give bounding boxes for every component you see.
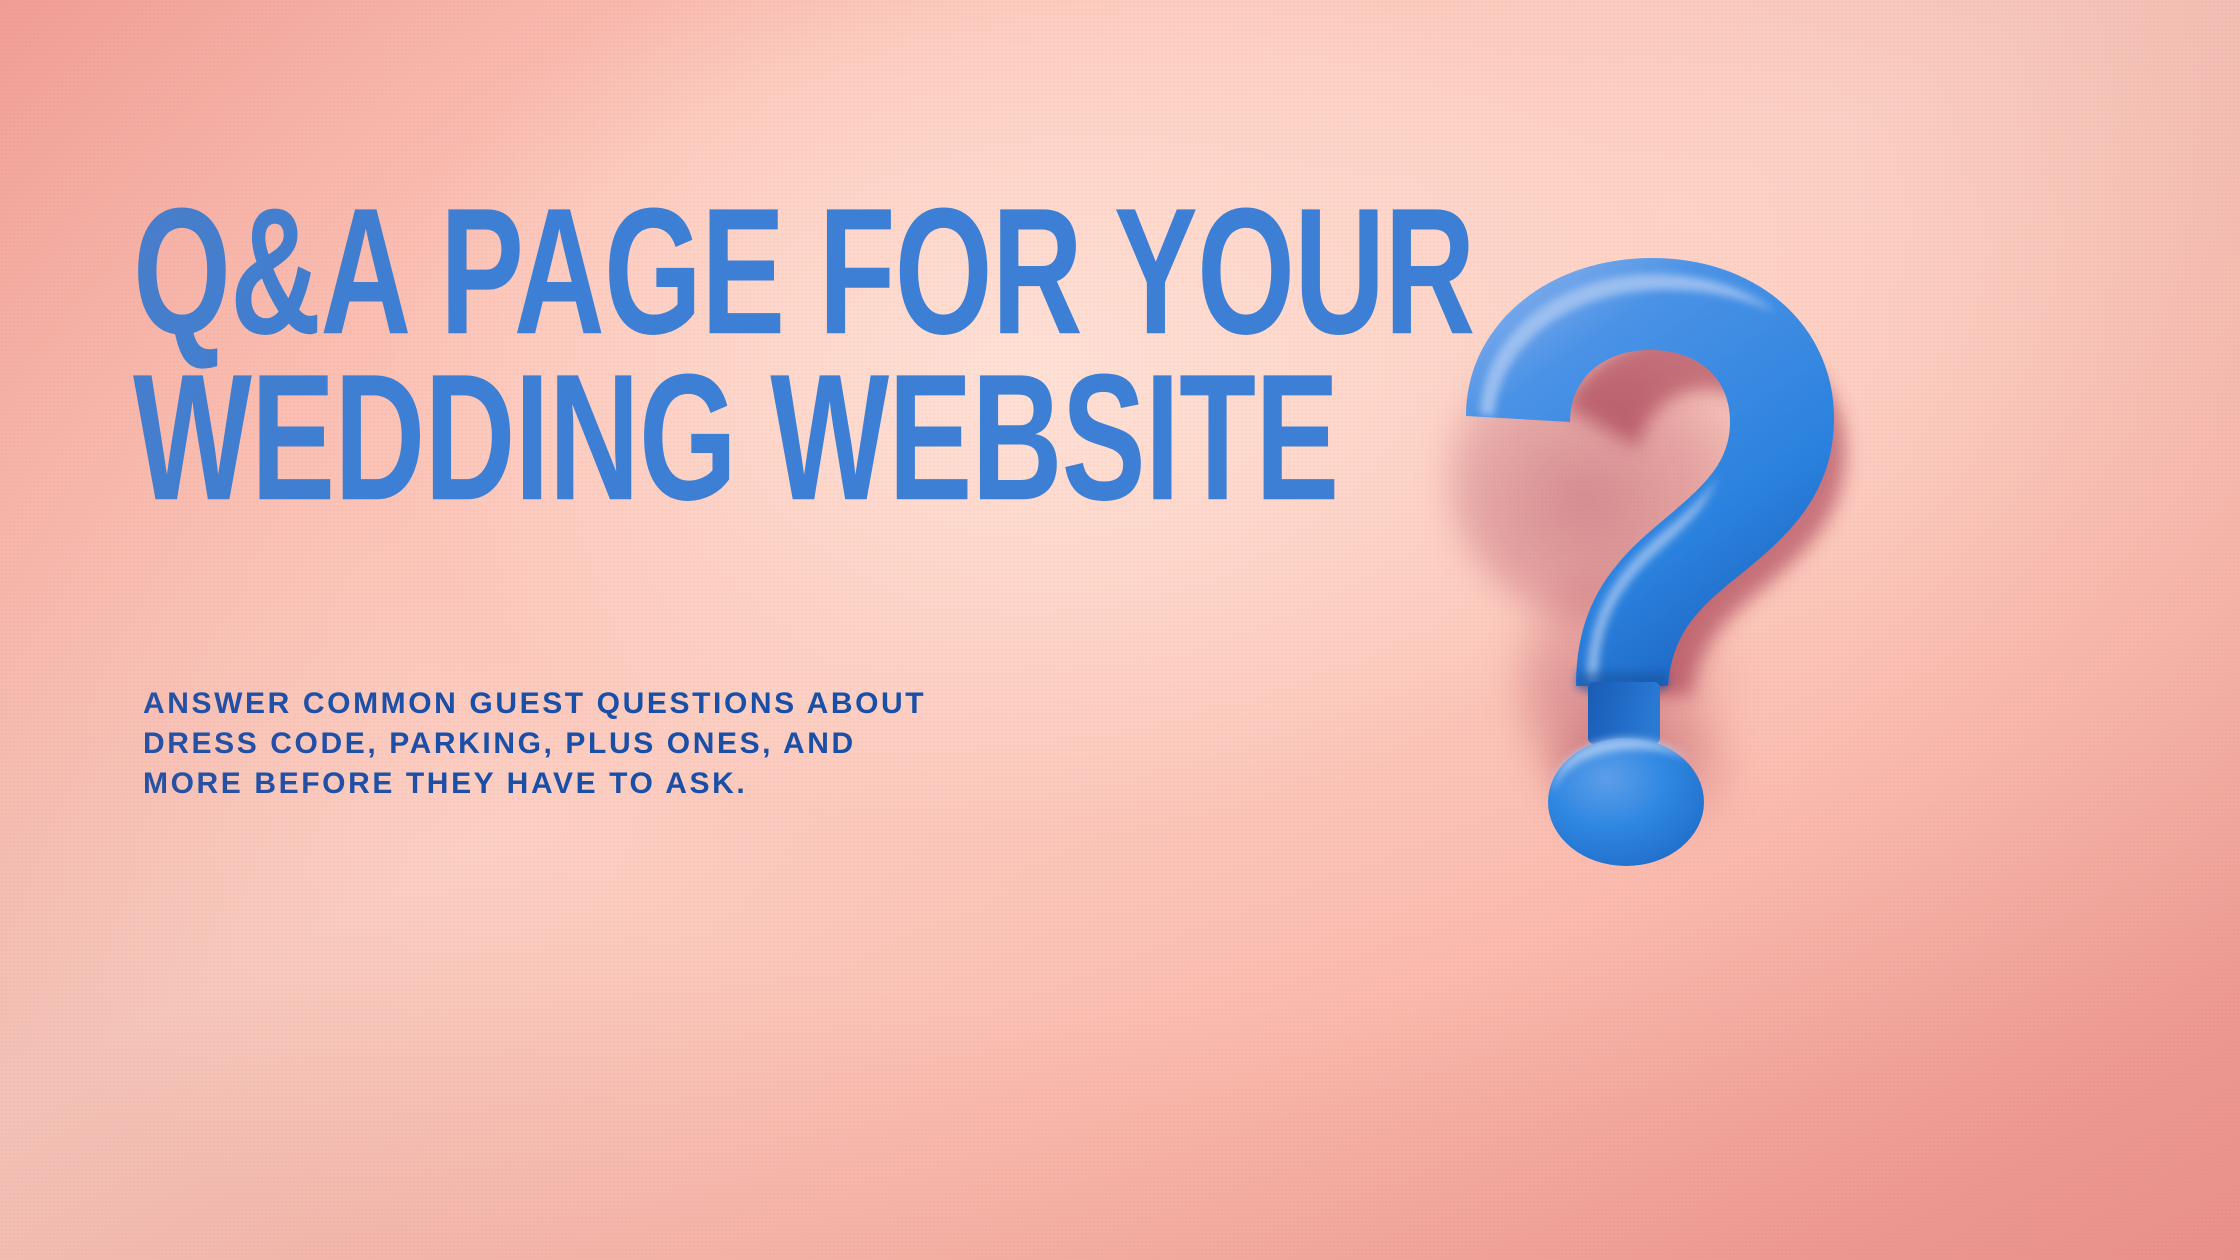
question-mark-icon bbox=[1400, 230, 1900, 870]
page-title-line-1: Q&A PAGE FOR YOUR bbox=[133, 182, 1166, 360]
headline-block: Q&A PAGE FOR YOUR WEDDING WEBSITE bbox=[133, 182, 1363, 496]
question-mark-body bbox=[1466, 258, 1834, 686]
poster-canvas: Q&A PAGE FOR YOUR WEDDING WEBSITE ANSWER… bbox=[0, 0, 2240, 1260]
question-mark-prop bbox=[1400, 230, 1900, 870]
page-title-line-2: WEDDING WEBSITE bbox=[133, 348, 1166, 526]
question-mark-stem bbox=[1588, 682, 1660, 744]
subtitle-paragraph: ANSWER COMMON GUEST QUESTIONS ABOUT DRES… bbox=[143, 684, 963, 804]
